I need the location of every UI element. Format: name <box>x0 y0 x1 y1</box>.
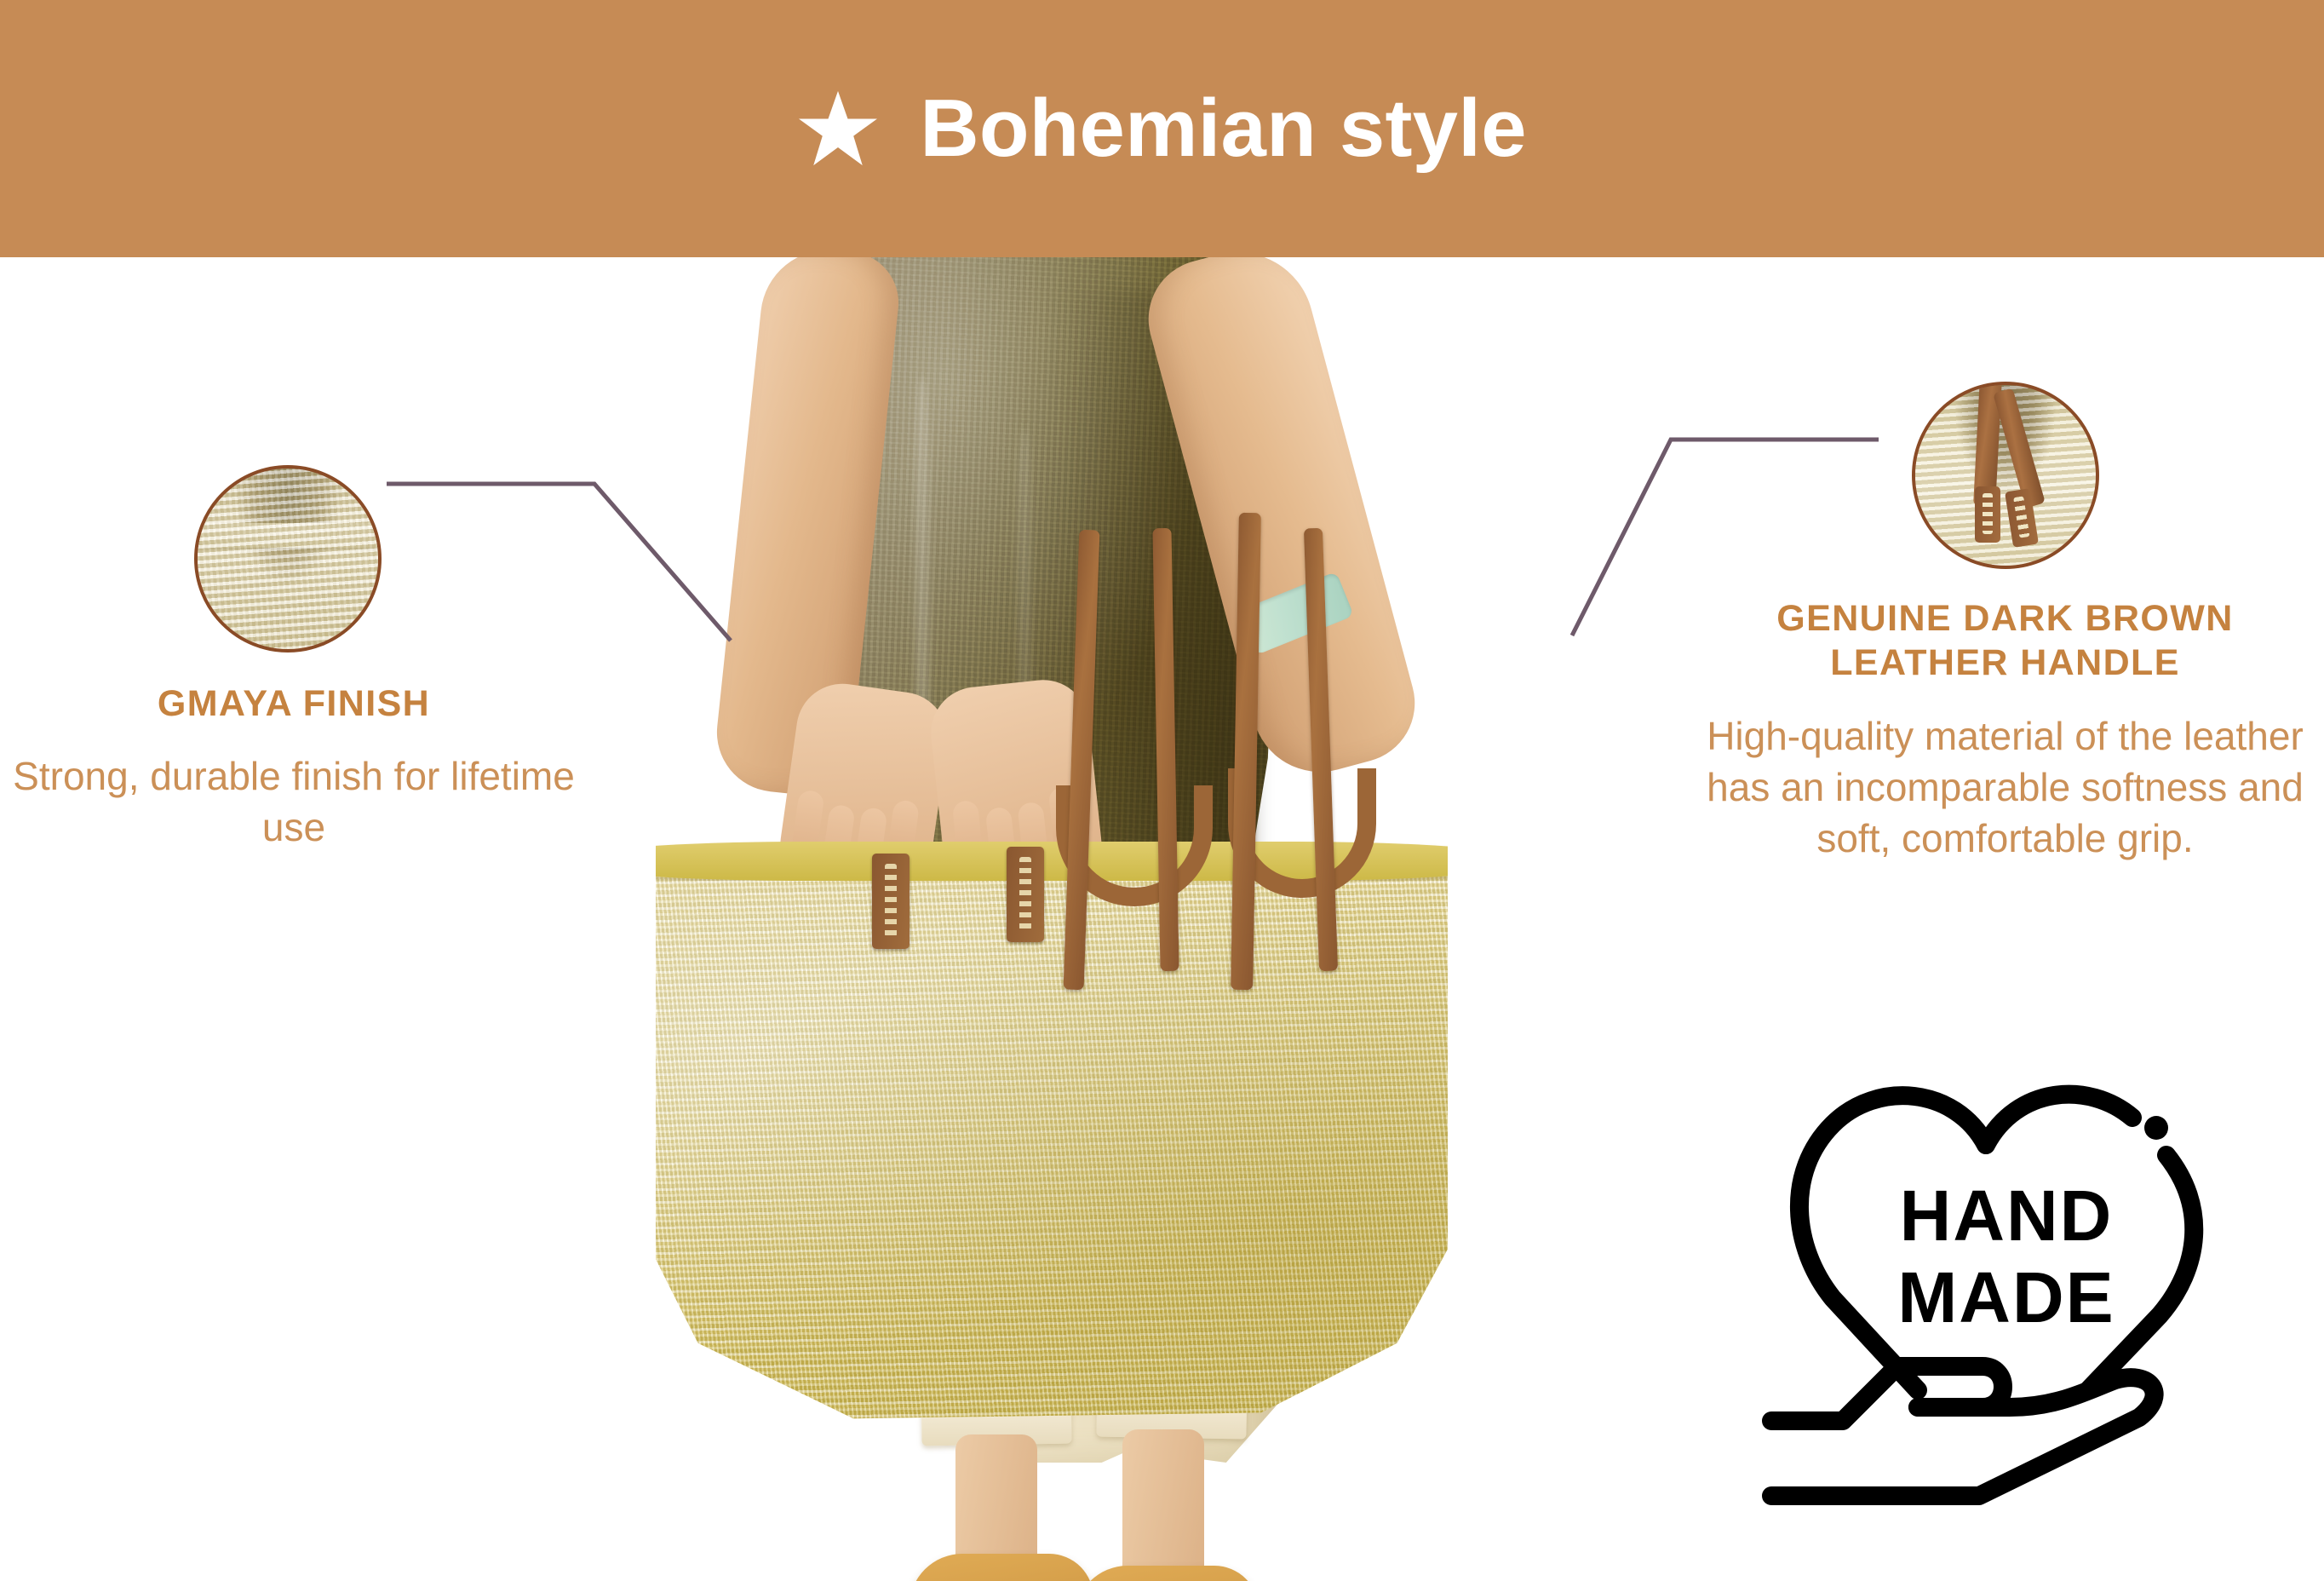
thumbnail-leather-handle <box>1912 382 2099 569</box>
straw-rim-band <box>198 523 378 549</box>
infographic-canvas: Bohemian style <box>0 0 2324 1581</box>
badge-line1: HAND <box>1900 1176 2114 1256</box>
product-photo <box>656 257 1448 1581</box>
left-sandal <box>910 1554 1093 1581</box>
star-icon <box>797 89 879 168</box>
header-bar: Bohemian style <box>0 0 2324 257</box>
photo-content <box>656 257 1448 1581</box>
handmade-badge: HAND MADE <box>1754 1056 2265 1516</box>
handle-tab-left <box>872 854 910 949</box>
page-title: Bohemian style <box>920 88 1526 170</box>
callout-title: GENUINE DARK BROWN LEATHER HANDLE <box>1686 596 2324 686</box>
callout-gmaya-finish: GMAYA FINISH Strong, durable finish for … <box>0 681 588 854</box>
handle-tab-right <box>1007 847 1044 942</box>
badge-line2: MADE <box>1897 1257 2115 1337</box>
callout-title: GMAYA FINISH <box>0 681 588 726</box>
right-leg <box>1122 1429 1204 1581</box>
thumb-handle-tab-1 <box>1975 486 2000 543</box>
callout-body: Strong, durable finish for lifetime use <box>0 751 588 854</box>
callout-leather-handle: GENUINE DARK BROWN LEATHER HANDLE High-q… <box>1686 596 2324 864</box>
badge-accent-dot <box>2144 1116 2168 1140</box>
thumbnail-gmaya-finish <box>194 465 382 653</box>
callout-body: High-quality material of the leather has… <box>1686 711 2324 864</box>
handmade-heart-in-hand-icon: HAND MADE <box>1754 1056 2265 1516</box>
right-sandal <box>1075 1566 1259 1581</box>
